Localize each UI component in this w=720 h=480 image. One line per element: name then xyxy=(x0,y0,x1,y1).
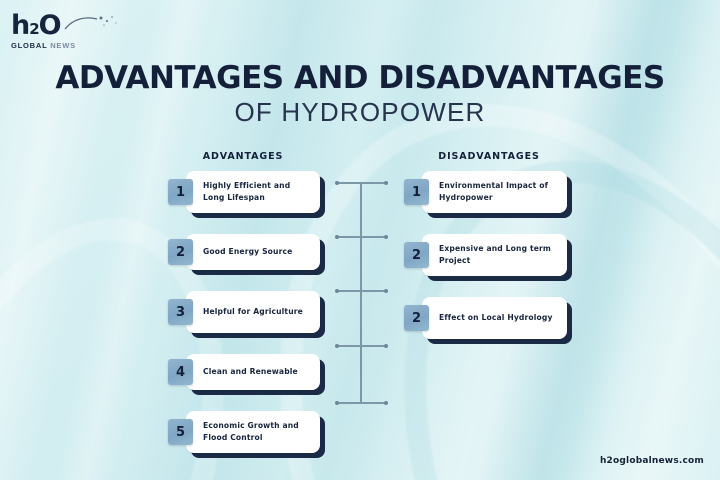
brand-logo[interactable]: h2O GLOBAL NEWS xyxy=(11,12,131,50)
logo-digit-2: 2 xyxy=(29,20,38,38)
title-line-primary: ADVANTAGES AND DISADVANTAGES xyxy=(0,62,720,95)
column-header-disadvantages: DISADVANTAGES xyxy=(404,151,574,162)
disadvantages-item-number-badge: 2 xyxy=(404,305,429,331)
connector-rung xyxy=(336,236,387,238)
advantages-item[interactable]: 3Helpful for Agriculture xyxy=(168,291,320,333)
disadvantages-item-label: Expensive and Long term Project xyxy=(439,243,558,267)
advantages-item[interactable]: 1Highly Efficient and Long Lifespan xyxy=(168,171,320,213)
advantages-item[interactable]: 2Good Energy Source xyxy=(168,234,320,270)
advantages-item-number-badge: 4 xyxy=(168,359,193,385)
disadvantages-item-number-badge: 1 xyxy=(404,179,429,205)
advantages-item-number-badge: 3 xyxy=(168,299,193,325)
page-title: ADVANTAGES AND DISADVANTAGES OF HYDROPOW… xyxy=(0,62,720,126)
disadvantages-item-label: Effect on Local Hydrology xyxy=(439,312,553,324)
advantages-item-card[interactable]: Economic Growth and Flood Control xyxy=(186,411,320,453)
advantages-item-card-shell: Good Energy Source xyxy=(186,234,320,270)
disadvantages-item-number-badge: 2 xyxy=(404,242,429,268)
advantages-item[interactable]: 4Clean and Renewable xyxy=(168,354,320,390)
disadvantages-item[interactable]: 1Environmental Impact of Hydropower xyxy=(404,171,567,213)
water-splash-icon xyxy=(63,13,119,35)
advantages-item[interactable]: 5Economic Growth and Flood Control xyxy=(168,411,320,453)
disadvantages-item-card[interactable]: Environmental Impact of Hydropower xyxy=(422,171,567,213)
disadvantages-item-card[interactable]: Expensive and Long term Project xyxy=(422,234,567,276)
disadvantages-item[interactable]: 2Expensive and Long term Project xyxy=(404,234,567,276)
advantages-item-card[interactable]: Highly Efficient and Long Lifespan xyxy=(186,171,320,213)
advantages-item-card-shell: Highly Efficient and Long Lifespan xyxy=(186,171,320,213)
advantages-column: 1Highly Efficient and Long Lifespan2Good… xyxy=(168,171,320,474)
disadvantages-item-card-shell: Effect on Local Hydrology xyxy=(422,297,567,339)
advantages-item-label: Clean and Renewable xyxy=(203,366,298,378)
footer-website[interactable]: h2oglobalnews.com xyxy=(600,456,704,466)
logo-wordmark: h2O xyxy=(11,12,131,39)
column-header-advantages: ADVANTAGES xyxy=(168,151,318,162)
logo-tagline-news: NEWS xyxy=(50,41,76,50)
advantages-item-label: Highly Efficient and Long Lifespan xyxy=(203,180,311,204)
advantages-item-card[interactable]: Good Energy Source xyxy=(186,234,320,270)
connector-rung xyxy=(336,402,387,404)
connector-rung xyxy=(336,290,387,292)
ladder-connector xyxy=(336,178,388,408)
logo-letter-o: O xyxy=(39,12,61,39)
advantages-item-card-shell: Economic Growth and Flood Control xyxy=(186,411,320,453)
disadvantages-item-card-shell: Environmental Impact of Hydropower xyxy=(422,171,567,213)
advantages-item-card-shell: Helpful for Agriculture xyxy=(186,291,320,333)
advantages-item-label: Economic Growth and Flood Control xyxy=(203,420,311,444)
advantages-item-label: Helpful for Agriculture xyxy=(203,306,303,318)
connector-spine xyxy=(360,182,362,404)
disadvantages-column: 1Environmental Impact of Hydropower2Expe… xyxy=(404,171,567,360)
advantages-item-card[interactable]: Clean and Renewable xyxy=(186,354,320,390)
disadvantages-item-label: Environmental Impact of Hydropower xyxy=(439,180,558,204)
advantages-item-label: Good Energy Source xyxy=(203,246,292,258)
advantages-item-number-badge: 5 xyxy=(168,419,193,445)
infographic-canvas: h2O GLOBAL NEWS ADVANTAGES AND DISADVANT… xyxy=(0,0,720,480)
disadvantages-item-card[interactable]: Effect on Local Hydrology xyxy=(422,297,567,339)
disadvantages-item[interactable]: 2Effect on Local Hydrology xyxy=(404,297,567,339)
disadvantages-item-card-shell: Expensive and Long term Project xyxy=(422,234,567,276)
advantages-item-number-badge: 1 xyxy=(168,179,193,205)
advantages-item-card[interactable]: Helpful for Agriculture xyxy=(186,291,320,333)
logo-tagline-global: GLOBAL xyxy=(11,41,47,50)
connector-rung xyxy=(336,182,387,184)
logo-letter-h: h xyxy=(11,10,29,41)
title-line-secondary: OF HYDROPOWER xyxy=(0,98,720,127)
advantages-item-card-shell: Clean and Renewable xyxy=(186,354,320,390)
advantages-item-number-badge: 2 xyxy=(168,239,193,265)
logo-tagline: GLOBAL NEWS xyxy=(11,41,131,50)
connector-rung xyxy=(336,345,387,347)
